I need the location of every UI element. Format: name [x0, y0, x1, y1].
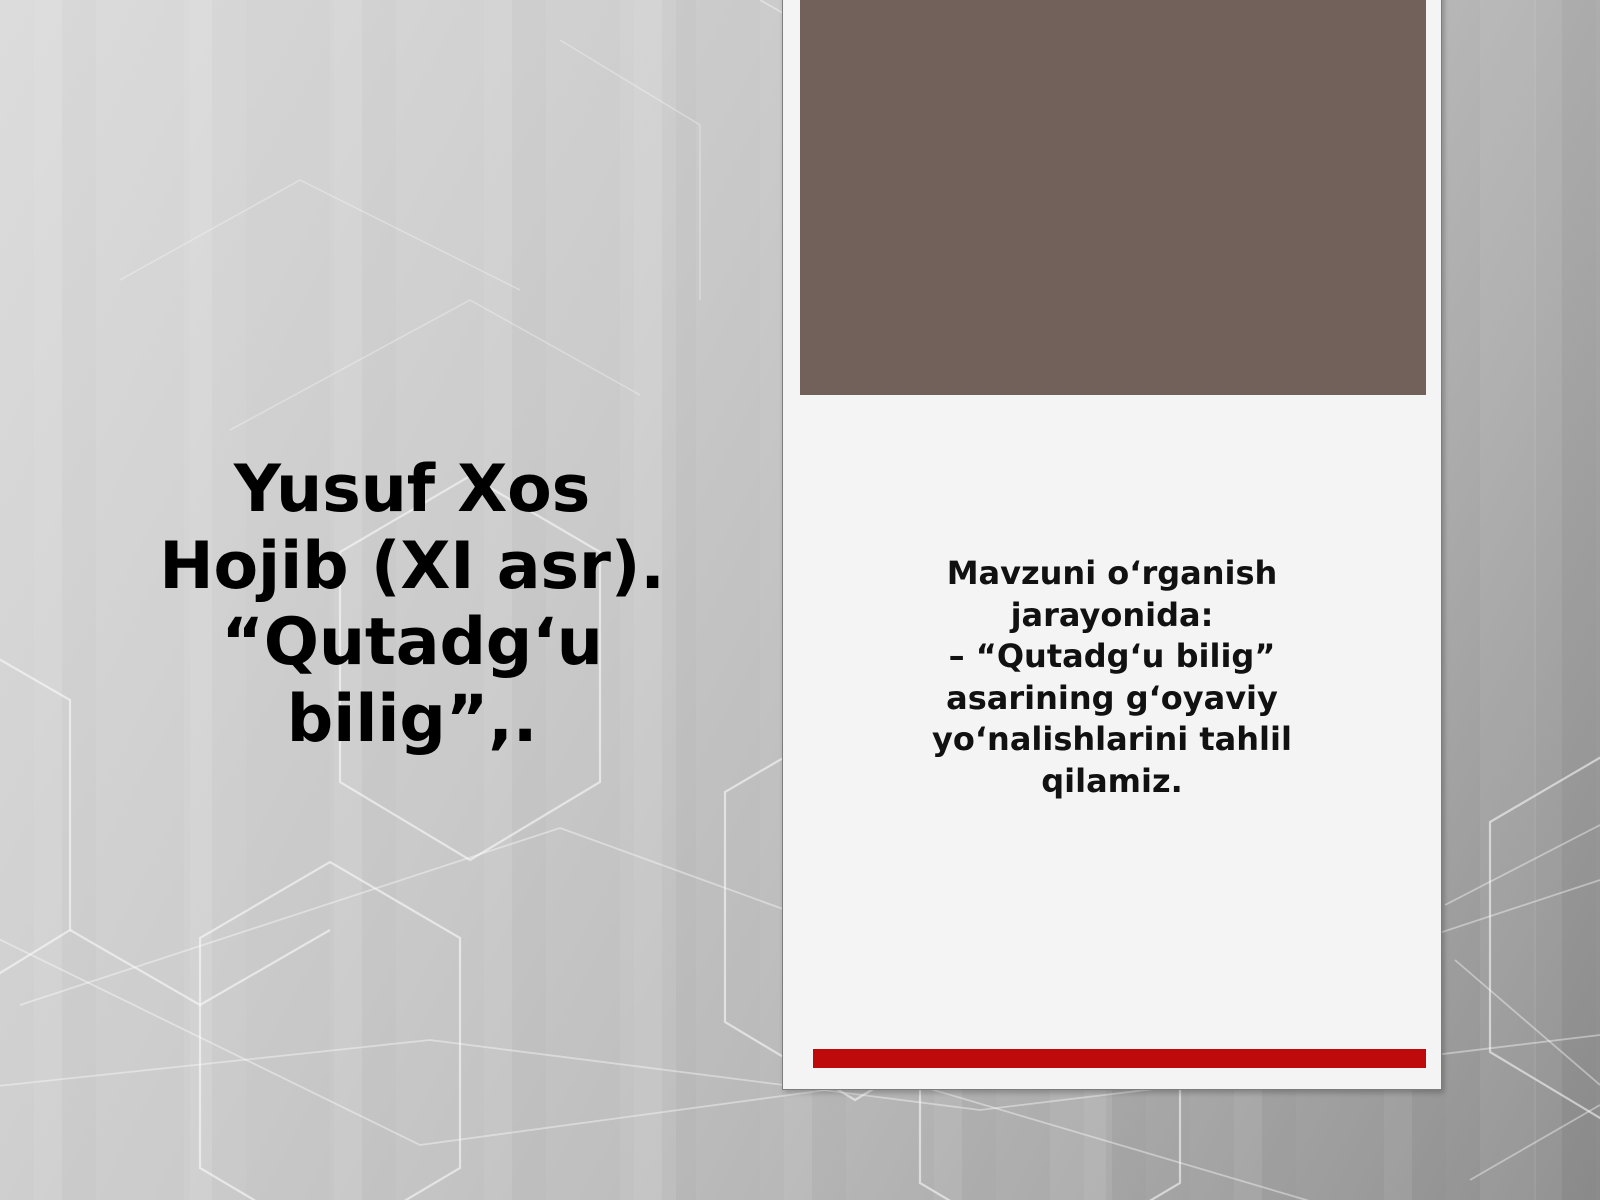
body-line: Mavzuni o‘rganish	[819, 553, 1405, 595]
content-card: Mavzuni o‘rganish jarayonida: – “Qutadg‘…	[782, 0, 1442, 1090]
title-line: bilig”,.	[287, 682, 537, 757]
presentation-slide: Yusuf Xos Hojib (XI asr). “Qutadg‘u bili…	[0, 0, 1600, 1200]
accent-rule	[813, 1049, 1426, 1068]
image-placeholder	[800, 0, 1426, 395]
body-line: asarining g‘oyaviy	[819, 678, 1405, 720]
card-body-text: Mavzuni o‘rganish jarayonida: – “Qutadg‘…	[819, 553, 1405, 803]
body-line: – “Qutadg‘u bilig”	[819, 636, 1405, 678]
body-line: qilamiz.	[819, 761, 1405, 803]
title-line: Hojib (XI asr).	[159, 529, 664, 604]
title-line: Yusuf Xos	[234, 452, 590, 527]
title-line: “Qutadg‘u	[221, 605, 602, 680]
body-line: yo‘nalishlarini tahlil	[819, 719, 1405, 761]
slide-title: Yusuf Xos Hojib (XI asr). “Qutadg‘u bili…	[92, 452, 732, 759]
body-line: jarayonida:	[819, 595, 1405, 637]
